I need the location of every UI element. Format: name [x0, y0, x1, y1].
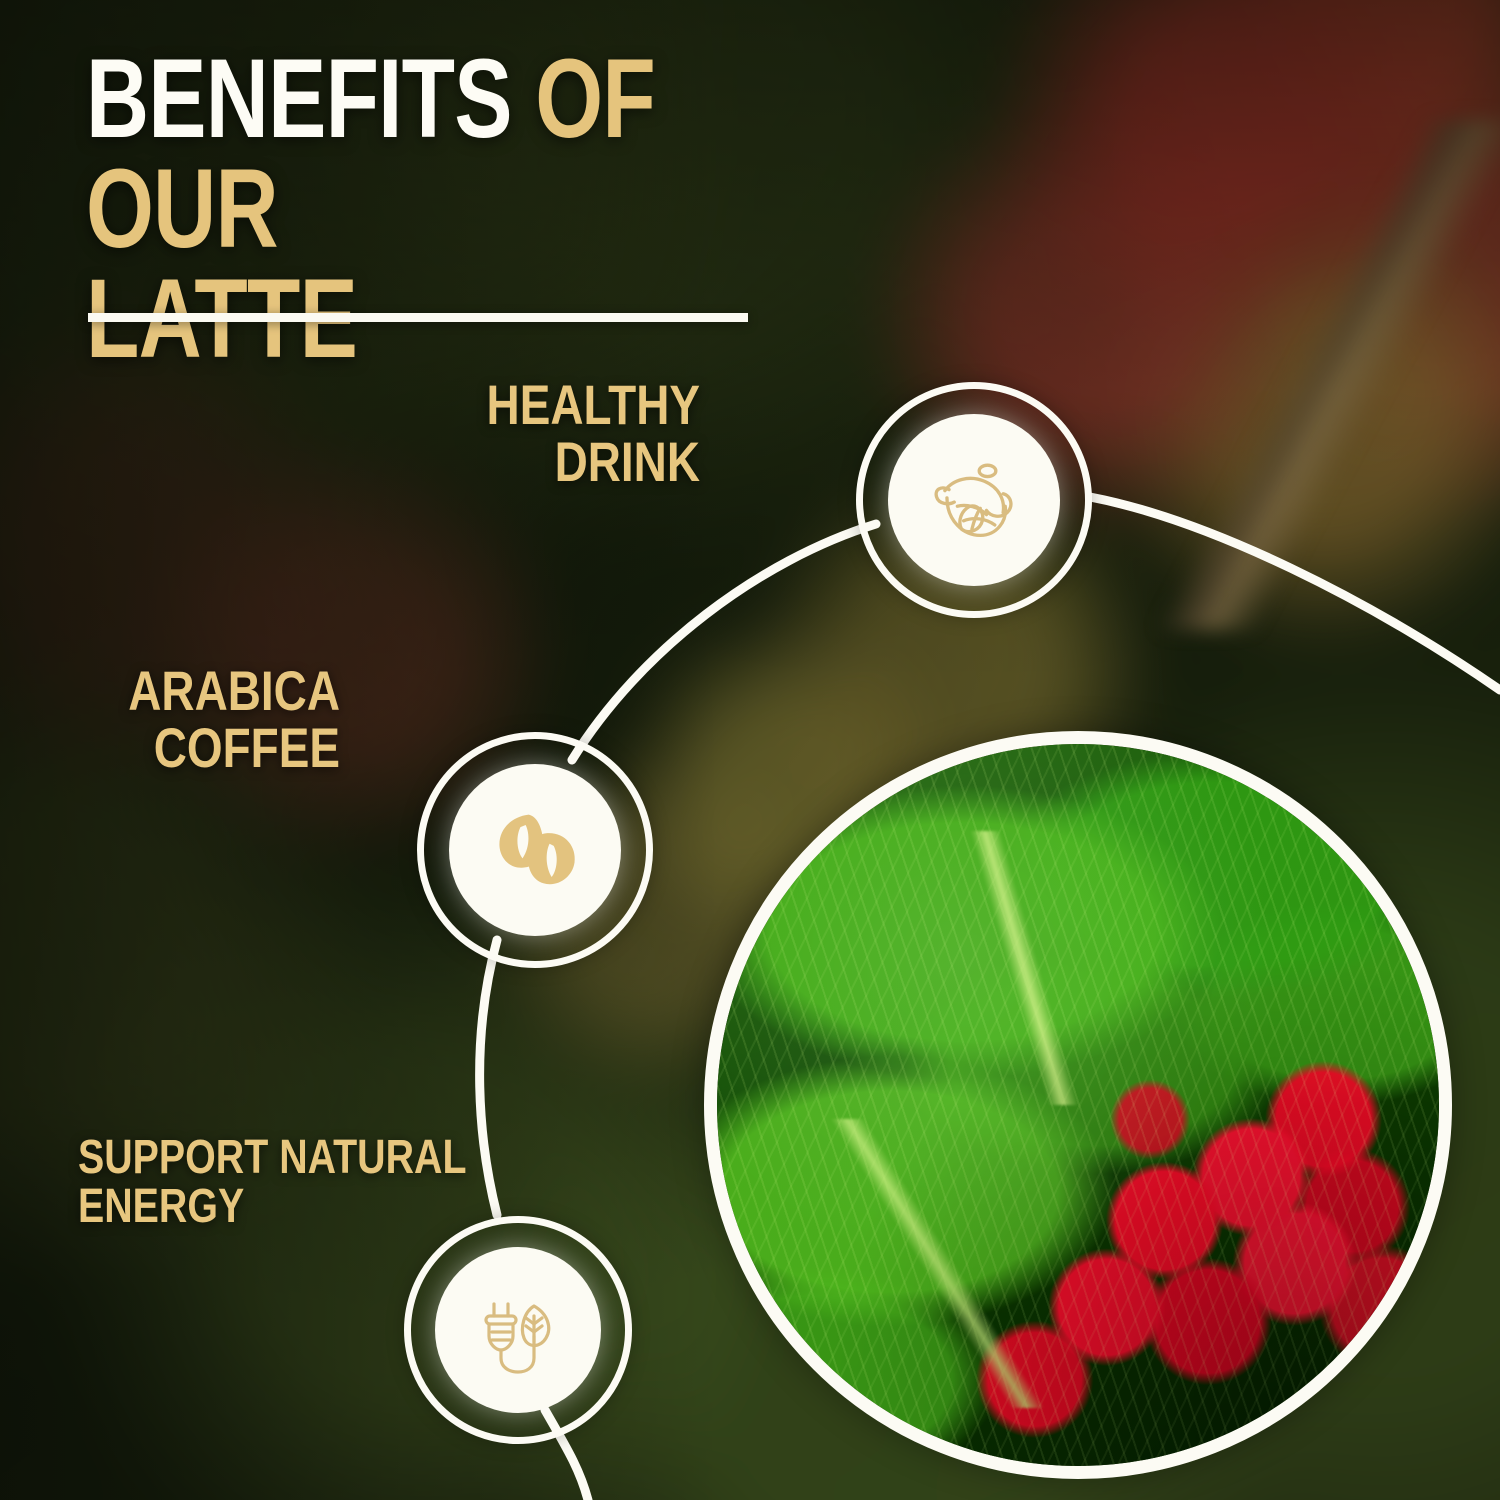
benefit-node-arabica-coffee[interactable] [417, 732, 653, 968]
benefit-label-support-natural-energy: SUPPORT NATURAL ENERGY [78, 1134, 504, 1232]
label-line-2: DRINK [555, 430, 700, 493]
infographic-poster: BENEFITS OF OUR LATTE [0, 0, 1500, 1500]
benefit-node-healthy-drink[interactable] [856, 382, 1092, 618]
label-line-1: HEALTHY [487, 373, 700, 436]
node-disc [449, 764, 621, 936]
title-underline-rule [88, 313, 748, 322]
node-disc [435, 1247, 601, 1413]
label-line-1: SUPPORT NATURAL [78, 1131, 466, 1184]
coffee-cup-leaf-icon [922, 448, 1026, 552]
plug-leaf-icon [468, 1280, 568, 1380]
feature-photo-shading [717, 744, 1439, 1466]
label-line-2: ENERGY [78, 1180, 244, 1233]
node-disc [888, 414, 1060, 586]
label-line-1: ARABICA [128, 659, 340, 722]
page-title: BENEFITS OF OUR LATTE [86, 44, 726, 373]
benefit-node-support-natural-energy[interactable] [404, 1216, 632, 1444]
label-line-2: COFFEE [154, 716, 340, 779]
feature-photo-circle [704, 731, 1452, 1479]
benefit-label-arabica-coffee: ARABICA COFFEE [12, 662, 340, 776]
coffee-beans-icon [483, 798, 587, 902]
benefit-label-healthy-drink: HEALTHY DRINK [372, 376, 700, 490]
page-title-white: BENEFITS [86, 36, 512, 161]
